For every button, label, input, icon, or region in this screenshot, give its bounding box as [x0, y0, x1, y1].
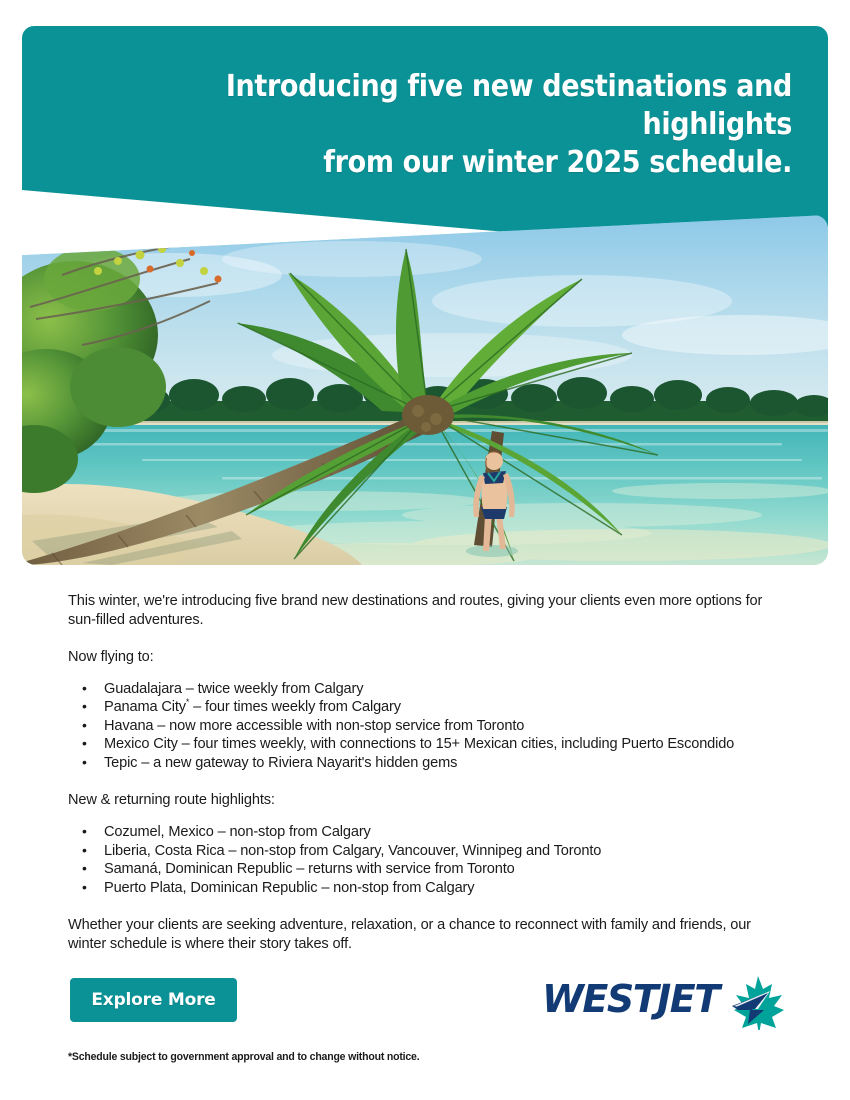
- list-item: Guadalajara – twice weekly from Calgary: [92, 680, 780, 699]
- list-item: Liberia, Costa Rica – non-stop from Calg…: [92, 842, 780, 861]
- list-item: Cozumel, Mexico – non-stop from Calgary: [92, 823, 780, 842]
- list-item: Tepic – a new gateway to Riviera Nayarit…: [92, 754, 780, 773]
- list-item: Samaná, Dominican Republic – returns wit…: [92, 860, 780, 879]
- body-content: This winter, we're introducing five bran…: [68, 592, 780, 953]
- list-item: Mexico City – four times weekly, with co…: [92, 735, 780, 754]
- section-one-heading: Now flying to:: [68, 648, 780, 667]
- hero-title-line-2: from our winter 2025 schedule.: [99, 144, 792, 182]
- list-item-label: Samaná, Dominican Republic – returns wit…: [104, 861, 515, 877]
- footnote-marker: *: [186, 697, 189, 707]
- route-highlights-list: Cozumel, Mexico – non-stop from Calgary …: [68, 823, 780, 897]
- maple-leaf-icon: [732, 976, 784, 1030]
- list-item-label: Havana – now more accessible with non-st…: [104, 718, 524, 734]
- email-page: Introducing five new destinations and hi…: [0, 0, 850, 1100]
- list-item-label: Cozumel, Mexico – non-stop from Calgary: [104, 824, 371, 840]
- hero-title: Introducing five new destinations and hi…: [99, 68, 792, 182]
- section-two-heading: New & returning route highlights:: [68, 791, 780, 810]
- list-item-label: Puerto Plata, Dominican Republic – non-s…: [104, 880, 474, 896]
- westjet-logo-svg: WESTJET: [542, 970, 790, 1030]
- list-item: Panama City* – four times weekly from Ca…: [92, 698, 780, 717]
- list-item: Puerto Plata, Dominican Republic – non-s…: [92, 879, 780, 898]
- list-item-label: Liberia, Costa Rica – non-stop from Calg…: [104, 843, 601, 859]
- hero-title-line-1: Introducing five new destinations and hi…: [99, 68, 792, 144]
- list-item-label: Tepic – a new gateway to Riviera Nayarit…: [104, 755, 457, 771]
- explore-more-button[interactable]: Explore More: [70, 978, 237, 1022]
- beach-scene-illustration: [22, 215, 828, 565]
- list-item: Havana – now more accessible with non-st…: [92, 717, 780, 736]
- cta-row: Explore More WESTJET: [0, 978, 850, 1026]
- hero-photo: [22, 215, 828, 565]
- list-item-label: Mexico City – four times weekly, with co…: [104, 736, 734, 752]
- list-item-label: Guadalajara – twice weekly from Calgary: [104, 681, 363, 697]
- westjet-wordmark: WESTJET: [542, 977, 723, 1021]
- intro-paragraph: This winter, we're introducing five bran…: [68, 592, 780, 629]
- list-item-label-panama: Panama City* – four times weekly from Ca…: [104, 699, 401, 715]
- footnote-disclaimer: *Schedule subject to government approval…: [68, 1050, 726, 1064]
- closing-paragraph: Whether your clients are seeking adventu…: [68, 916, 780, 953]
- westjet-logo: WESTJET: [542, 970, 790, 1030]
- now-flying-list: Guadalajara – twice weekly from Calgary …: [68, 680, 780, 773]
